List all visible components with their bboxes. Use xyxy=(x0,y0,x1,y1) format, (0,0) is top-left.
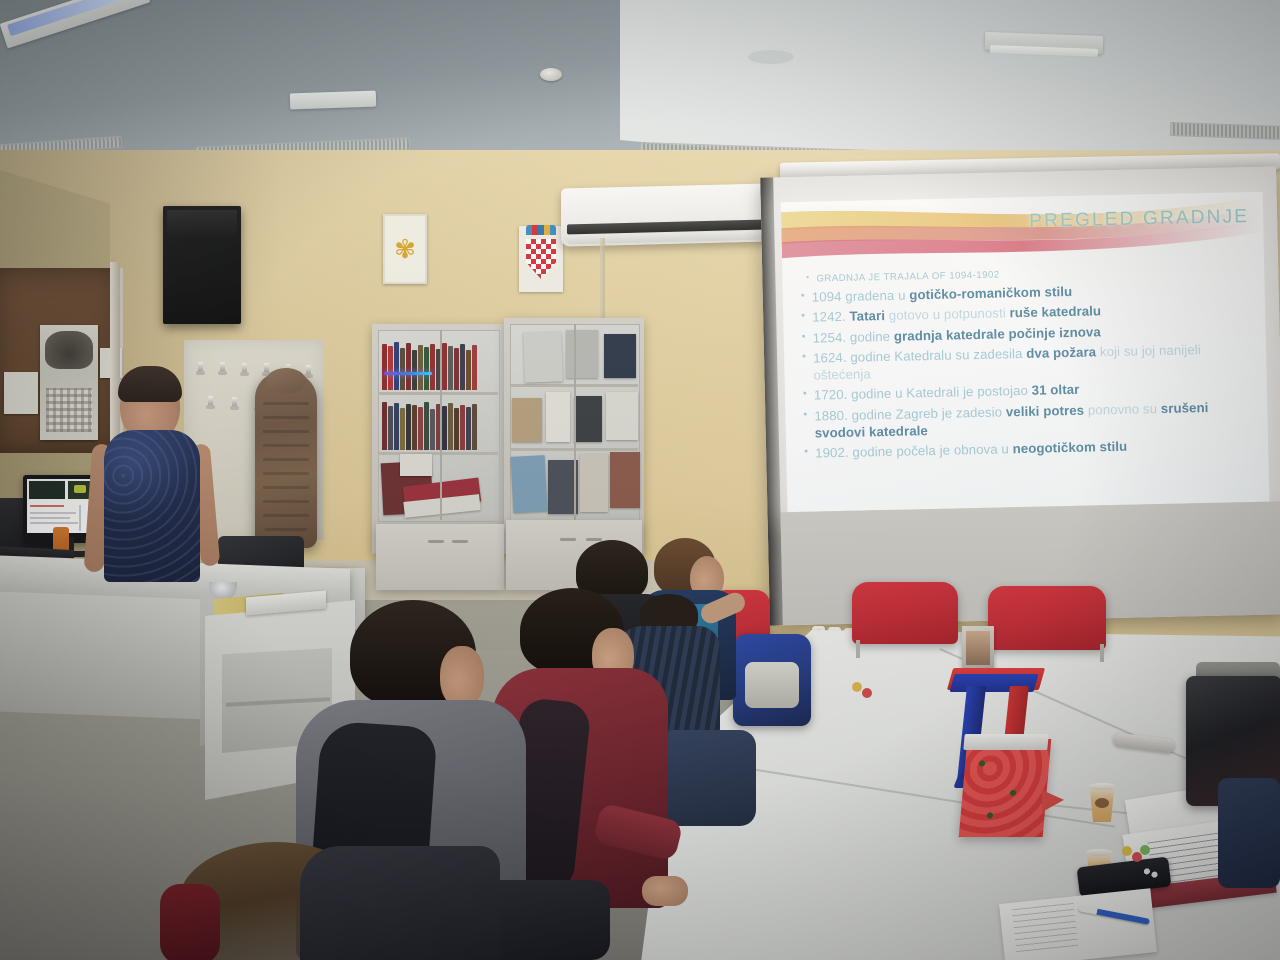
display-item xyxy=(604,334,636,378)
coat-hook-icon xyxy=(242,363,247,374)
swoosh-svg xyxy=(781,192,1264,268)
bullet-pre: 1094 gradena u xyxy=(812,287,910,304)
bullet-pre: 1720. godine u Katedrali je postojao xyxy=(814,383,1032,403)
bullet-post: gotovo u potpunosti xyxy=(885,305,1010,323)
wall-poster xyxy=(40,325,98,440)
monitor-highlight xyxy=(30,505,64,507)
bullet-pre: GRADNJA JE TRAJALA OF 1094-1902 xyxy=(816,269,999,284)
student-head xyxy=(440,646,484,708)
ceiling-speaker xyxy=(748,50,794,64)
bullet-bold: gotičko-romaničkom stilu xyxy=(909,284,1072,303)
projection-screen: PREGLED GRADNJE GRADNJA JE TRAJALA OF 10… xyxy=(760,166,1280,625)
red-chair[interactable] xyxy=(852,582,958,644)
pinned-paper xyxy=(4,372,38,414)
worksheet-lines xyxy=(1012,903,1078,953)
display-item xyxy=(566,330,598,378)
slide-bullet-list: GRADNJA JE TRAJALA OF 1094-1902 1094 gra… xyxy=(798,264,1258,466)
candy-wrapper xyxy=(862,688,872,698)
gold-emblem-icon: ✾ xyxy=(394,236,416,262)
student-torso xyxy=(300,846,500,960)
slide-bullet: 1624. godine Katedralu su zadesila dva p… xyxy=(800,341,1257,385)
bullet-bold: veliki potres xyxy=(1006,402,1085,419)
bullet-post: ponovno su xyxy=(1084,401,1161,418)
air-conditioner xyxy=(561,183,769,246)
checkerboard-pattern xyxy=(526,239,556,279)
candy-wrapper xyxy=(1122,846,1132,856)
bullet-pre: 1624. godine Katedralu su zadesila xyxy=(813,346,1026,366)
student-hand xyxy=(642,876,688,906)
bullet-pre: 1242. xyxy=(812,309,850,325)
candy-wrapper xyxy=(1140,845,1150,855)
coat-hook-icon xyxy=(208,396,213,407)
projected-slide: PREGLED GRADNJE GRADNJA JE TRAJALA OF 10… xyxy=(781,192,1270,512)
cabinet-door-divider xyxy=(574,324,576,520)
display-item xyxy=(580,454,608,512)
red-chair[interactable] xyxy=(988,586,1106,650)
bullet-bold: neogotičkom stilu xyxy=(1012,439,1127,456)
bullet-bold: gradnja katedrale počinje iznova xyxy=(894,324,1101,344)
monitor-panel xyxy=(29,481,65,499)
cup-rim xyxy=(1088,783,1116,790)
coat-hook-icon xyxy=(264,363,269,374)
presenter-torso xyxy=(104,430,200,582)
display-item xyxy=(574,396,602,442)
cabinet-led-strip xyxy=(384,372,432,375)
cabinet-shelf xyxy=(378,392,498,395)
board-frame xyxy=(110,262,120,462)
smoke-detector-icon xyxy=(540,68,562,81)
coat-of-arms-crown xyxy=(526,225,556,235)
bullet-pre: 1254. godine xyxy=(813,328,895,345)
candy-wrapper xyxy=(852,682,862,692)
coat-hook-icon xyxy=(232,397,237,408)
cabinet-lower-door[interactable] xyxy=(376,524,504,590)
gift-bag-opening xyxy=(963,734,1048,750)
coat-of-arms-icon xyxy=(526,239,556,279)
hanging-jacket xyxy=(255,372,317,548)
bullet-pre: 1902. godine počela je obnova u xyxy=(815,441,1013,460)
display-item xyxy=(606,392,638,440)
chair-leg xyxy=(1100,644,1104,662)
student-collar xyxy=(160,884,220,960)
coat-hook-icon xyxy=(198,362,203,373)
bullet-bold: Tatari xyxy=(849,308,885,324)
coat-hook-icon xyxy=(306,365,311,376)
wall-mounted-tv xyxy=(163,206,241,324)
backpack-pouch xyxy=(745,662,799,708)
seated-person-legs xyxy=(1218,778,1280,888)
display-item xyxy=(512,398,542,442)
cup-rim xyxy=(1085,849,1113,856)
student-legs xyxy=(660,730,756,826)
cup-logo xyxy=(1095,798,1109,808)
cabinet-handle[interactable] xyxy=(452,540,468,543)
bullet-tail: ruše katedralu xyxy=(1009,303,1101,320)
gift-bag xyxy=(959,739,1052,837)
display-item xyxy=(610,452,640,508)
chair-leg xyxy=(856,640,860,658)
book-row xyxy=(382,400,496,450)
ceiling-light-fixture xyxy=(290,91,377,110)
book-row xyxy=(382,340,494,390)
display-item xyxy=(523,331,563,382)
bullet-pre: 1880. godine Zagreb je zadesio xyxy=(814,404,1006,423)
framed-coat-of-arms xyxy=(519,226,563,292)
cabinet-shelf xyxy=(378,452,498,455)
classroom-photo: ✾ xyxy=(0,0,1280,960)
shelf-label xyxy=(400,454,432,476)
framed-gold-emblem: ✾ xyxy=(383,214,427,284)
bullet-bold: dva požara xyxy=(1026,344,1096,361)
photo-frame xyxy=(962,626,994,670)
slide-bullet: 1880. godine Zagreb je zadesio veliki po… xyxy=(801,399,1258,443)
slide-header-decoration xyxy=(781,192,1264,268)
bullet-bold: 31 oltar xyxy=(1032,382,1080,398)
jacket-collar xyxy=(266,368,306,394)
display-item xyxy=(546,392,570,442)
cabinet-door-divider xyxy=(440,330,442,520)
coat-hook-icon xyxy=(220,362,225,373)
cabinet-handle[interactable] xyxy=(428,540,444,543)
cabinet-handle[interactable] xyxy=(560,538,576,541)
cabinet-handle[interactable] xyxy=(586,538,602,541)
display-item xyxy=(511,455,548,513)
